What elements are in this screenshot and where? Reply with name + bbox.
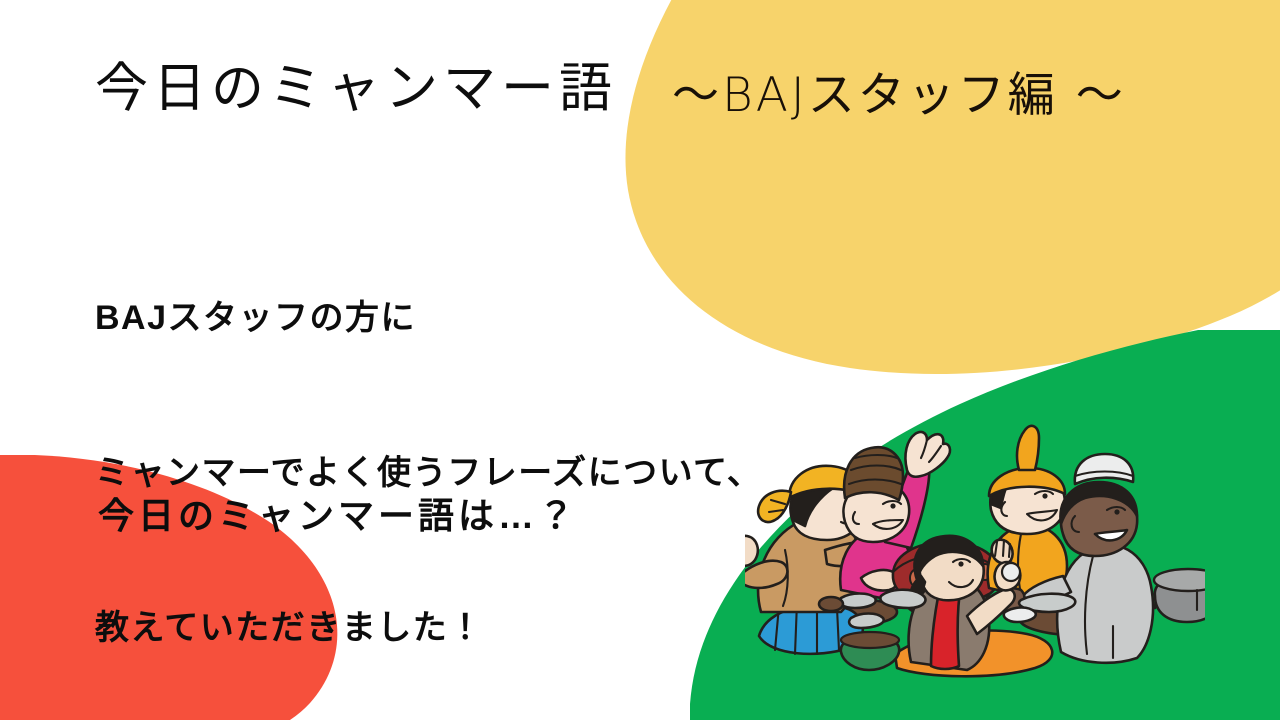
green-bowl: [841, 632, 899, 670]
page-subtitle: 〜BAJスタッフ編 〜: [672, 72, 1126, 119]
body-paragraph: BAJスタッフの方に ミャンマーでよく使うフレーズについて、 教えていただきまし…: [95, 190, 762, 720]
body-line-3: 教えていただきました！: [95, 603, 762, 655]
page-title: 今日のミャンマー語: [95, 62, 617, 115]
question-text: 今日のミャンマー語は…？: [98, 487, 578, 539]
slide-canvas: 今日のミャンマー語 〜BAJスタッフ編 〜 BAJスタッフの方に ミャンマーでよ…: [0, 0, 1280, 720]
body-line-1: BAJスタッフの方に: [95, 293, 762, 345]
grey-cooking-pot: [1154, 569, 1205, 622]
people-sharing-meal-illustration: .ol{stroke:#231f1c;stroke-width:2.6;stro…: [745, 400, 1205, 690]
